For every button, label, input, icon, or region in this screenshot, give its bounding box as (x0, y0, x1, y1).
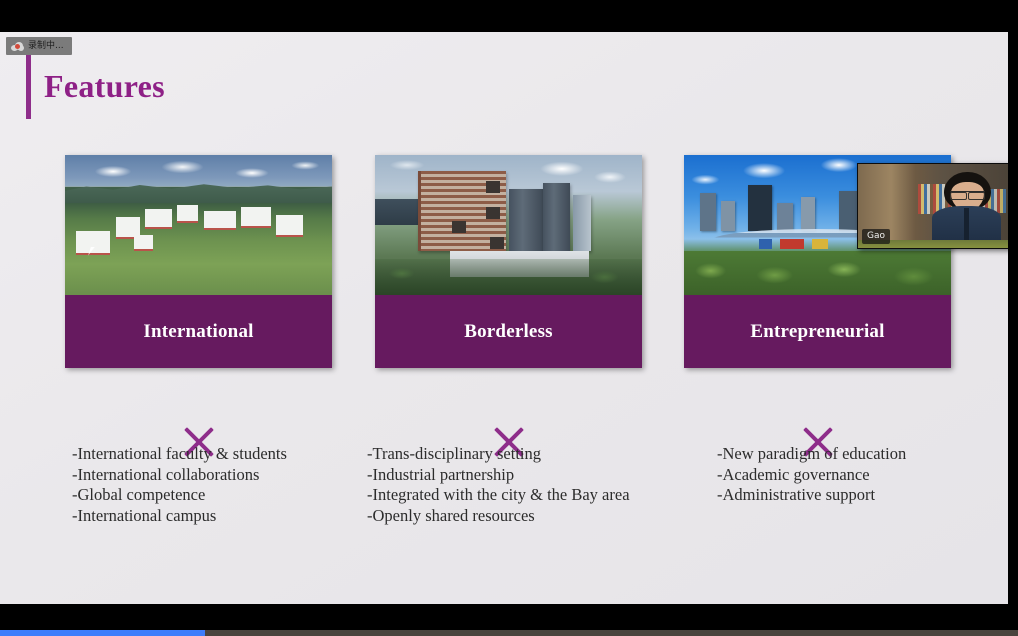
video-overlay-tile[interactable]: Gao (857, 163, 1010, 249)
avatar (930, 172, 1002, 248)
letterbox-top (0, 0, 1018, 32)
modern-building-render-photo (375, 155, 642, 295)
recording-badge-label: 录制中... (28, 37, 64, 55)
screen-root: 录制中... Features International (0, 0, 1018, 636)
recording-badge[interactable]: 录制中... (6, 37, 72, 55)
list-item: -Academic governance (717, 465, 906, 486)
feature-bullets-borderless: -Trans-disciplinary setting -Industrial … (367, 444, 630, 526)
feature-card-label: Borderless (375, 295, 642, 368)
list-item: -New paradigm of education (717, 444, 906, 465)
letterbox-right (1008, 32, 1018, 604)
list-item: -Openly shared resources (367, 506, 630, 527)
cloud-record-icon (11, 42, 24, 51)
feature-card-international[interactable]: International (65, 155, 332, 368)
campus-aerial-photo (65, 155, 332, 295)
record-dot-icon (15, 44, 20, 49)
list-item: -International collaborations (72, 465, 287, 486)
list-item: -Trans-disciplinary setting (367, 444, 630, 465)
participant-name-label: Gao (862, 229, 890, 244)
feature-bullets-international: -International faculty & students -Inter… (72, 444, 287, 526)
list-item: -International faculty & students (72, 444, 287, 465)
list-item: -International campus (72, 506, 287, 527)
progress-bar-fill (0, 630, 205, 636)
feature-card-label: International (65, 295, 332, 368)
glasses-icon (950, 191, 985, 198)
feature-card-label: Entrepreneurial (684, 295, 951, 368)
list-item: -Industrial partnership (367, 465, 630, 486)
list-item: -Administrative support (717, 485, 906, 506)
feature-bullets-entrepreneurial: -New paradigm of education -Academic gov… (717, 444, 906, 506)
list-item: -Integrated with the city & the Bay area (367, 485, 630, 506)
presentation-slide: 录制中... Features International (0, 32, 1008, 604)
progress-bar-track[interactable] (0, 630, 1018, 636)
list-item: -Global competence (72, 485, 287, 506)
feature-card-borderless[interactable]: Borderless (375, 155, 642, 368)
